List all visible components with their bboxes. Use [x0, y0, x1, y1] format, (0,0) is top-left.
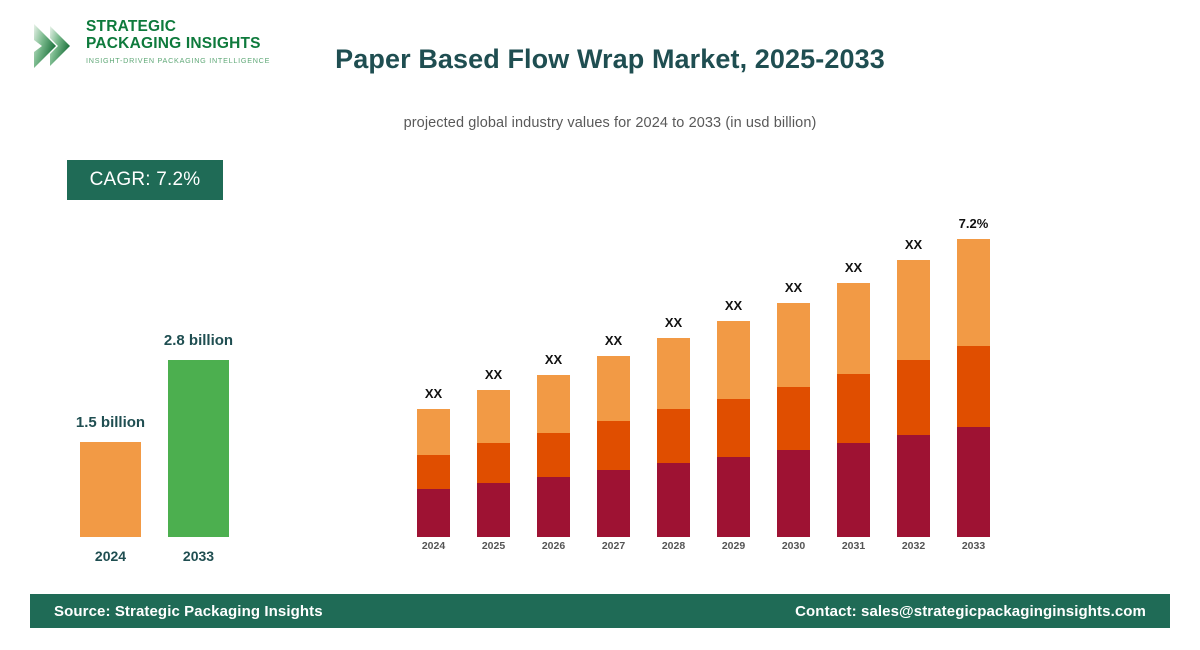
stacked-bar-segment [837, 283, 870, 374]
stacked-forecast-chart: XX2024XX2025XX2026XX2027XX2028XX2029XX20… [0, 0, 1200, 650]
stacked-bar-segment [777, 303, 810, 387]
stacked-bar-top-label: XX [574, 333, 654, 348]
stacked-bar-segment [477, 443, 510, 483]
stacked-bar-top-label: XX [694, 298, 774, 313]
stacked-bar-segment [657, 409, 690, 463]
stacked-bar-column [597, 356, 630, 537]
stacked-bar-segment [597, 421, 630, 470]
stacked-bar-column [957, 239, 990, 537]
stacked-bar-segment [597, 470, 630, 537]
stacked-bar-column [837, 283, 870, 537]
stacked-bar-segment [657, 338, 690, 409]
stacked-bar-column [897, 260, 930, 537]
stacked-bar-segment [477, 390, 510, 443]
infographic-canvas: STRATEGIC PACKAGING INSIGHTS INSIGHT-DRI… [0, 0, 1200, 650]
stacked-bar-column [417, 409, 450, 537]
footer-bar: Source: Strategic Packaging Insights Con… [30, 594, 1170, 628]
stacked-bar-segment [537, 375, 570, 433]
stacked-bar-segment [717, 399, 750, 457]
stacked-bar-segment [417, 489, 450, 537]
stacked-bar-segment [417, 409, 450, 455]
stacked-bar-column [537, 375, 570, 537]
stacked-bar-column [477, 390, 510, 537]
stacked-bar-segment [837, 374, 870, 443]
stacked-bar-segment [717, 321, 750, 399]
stacked-bar-top-label: XX [874, 237, 954, 252]
stacked-bar-top-label: XX [394, 386, 474, 401]
stacked-bar-column [777, 303, 810, 537]
stacked-bar-segment [897, 435, 930, 537]
stacked-bar-column [717, 321, 750, 537]
stacked-bar-top-label: XX [814, 260, 894, 275]
stacked-bar-segment [537, 433, 570, 477]
stacked-bar-segment [777, 387, 810, 450]
stacked-bar-segment [597, 356, 630, 421]
stacked-bar-column [657, 338, 690, 537]
stacked-bar-segment [897, 260, 930, 360]
stacked-bar-top-label: XX [754, 280, 834, 295]
footer-contact-text: Contact: sales@strategicpackaginginsight… [795, 603, 1146, 620]
stacked-bar-top-label: 7.2% [934, 216, 1014, 231]
stacked-bar-segment [897, 360, 930, 435]
stacked-bar-segment [957, 346, 990, 427]
stacked-bar-segment [957, 427, 990, 537]
stacked-bar-top-label: XX [514, 352, 594, 367]
stacked-bar-segment [957, 239, 990, 346]
stacked-bar-segment [477, 483, 510, 537]
stacked-bar-segment [837, 443, 870, 537]
stacked-bar-category-label: 2033 [934, 540, 1014, 552]
footer-source-text: Source: Strategic Packaging Insights [54, 603, 323, 620]
stacked-bar-segment [777, 450, 810, 537]
stacked-bar-segment [537, 477, 570, 537]
stacked-bar-segment [657, 463, 690, 537]
stacked-bar-top-label: XX [454, 367, 534, 382]
stacked-bar-segment [717, 457, 750, 537]
stacked-bar-segment [417, 455, 450, 489]
stacked-bar-top-label: XX [634, 315, 714, 330]
